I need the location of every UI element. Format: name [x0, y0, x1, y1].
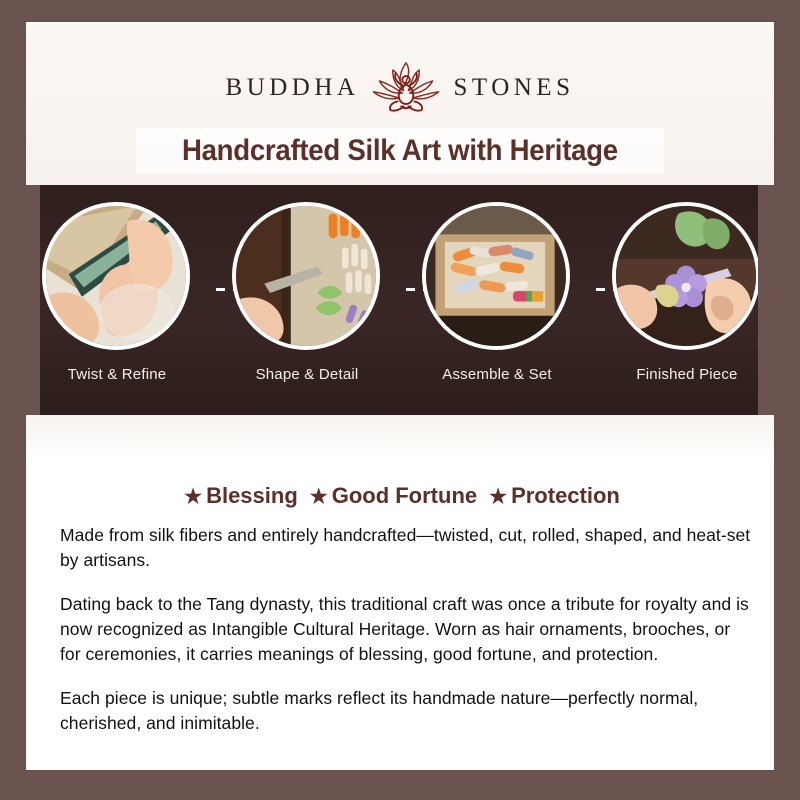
- brand-word-right: STONES: [453, 75, 574, 100]
- page-title: Handcrafted Silk Art with Heritage: [182, 134, 618, 168]
- star-icon: ★: [184, 484, 202, 509]
- step-label: Twist & Refine: [42, 366, 192, 383]
- step-item: Finished Piece: [612, 202, 758, 383]
- keyword-list: ★Blessing★Good Fortune★Protection: [26, 483, 774, 509]
- frame-bottom-edge: [0, 766, 800, 800]
- star-icon: ★: [489, 484, 507, 509]
- step-image-assemble-set: [422, 202, 570, 350]
- keyword-blessing: Blessing: [206, 483, 298, 508]
- frame-left-tab: [0, 185, 40, 415]
- step-image-shape-detail: [232, 202, 380, 350]
- keyword-protection: Protection: [511, 483, 620, 508]
- step-item: Shape & Detail: [232, 202, 382, 383]
- paragraph: Each piece is unique; subtle marks refle…: [36, 686, 776, 736]
- header-section: BUDDHA: [26, 22, 774, 185]
- step-item: Twist & Refine: [42, 202, 192, 383]
- brand-word-left: BUDDHA: [226, 75, 360, 100]
- paragraph: Made from silk fibers and entirely handc…: [36, 523, 776, 573]
- body-top-sheen: [26, 415, 774, 460]
- description-section: ★Blessing★Good Fortune★Protection Made f…: [26, 415, 774, 770]
- frame-right-tab: [758, 185, 800, 415]
- step-item: Assemble & Set: [422, 202, 572, 383]
- brand-logo: BUDDHA: [26, 56, 774, 118]
- step-label: Assemble & Set: [422, 366, 572, 383]
- keyword-good-fortune: Good Fortune: [332, 483, 477, 508]
- process-steps-section: Twist & Refine: [26, 185, 758, 415]
- step-image-twist-refine: [42, 202, 190, 350]
- lotus-meditation-icon: [369, 58, 443, 116]
- infographic-page: BUDDHA: [0, 0, 800, 800]
- star-icon: ★: [310, 484, 328, 509]
- paragraph-list: Made from silk fibers and entirely handc…: [36, 523, 776, 755]
- step-image-finished-piece: [612, 202, 758, 350]
- step-label: Shape & Detail: [232, 366, 382, 383]
- title-banner: Handcrafted Silk Art with Heritage: [136, 128, 664, 174]
- step-label: Finished Piece: [612, 366, 758, 383]
- paragraph: Dating back to the Tang dynasty, this tr…: [36, 592, 776, 667]
